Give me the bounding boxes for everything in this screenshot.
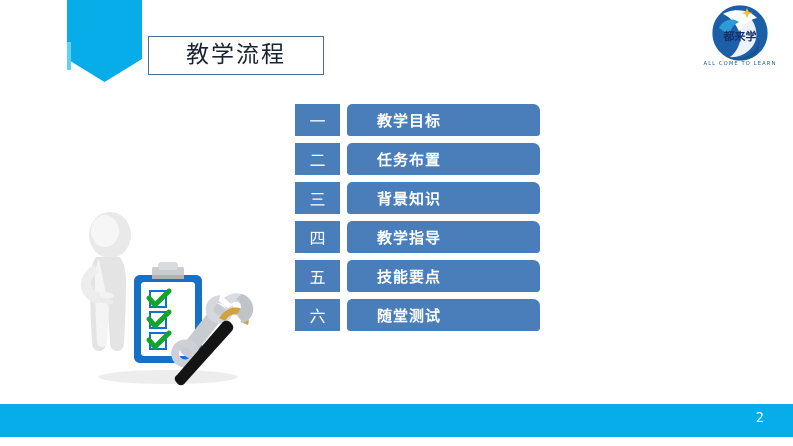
teaching-flow-list: 一 教学目标 二 任务布置 三 背景知识 四 教学指导 五 技能要点 六 随堂测…	[295, 104, 540, 331]
flow-label[interactable]: 任务布置	[347, 143, 540, 175]
3d-figure	[81, 212, 131, 351]
flow-label[interactable]: 教学指导	[347, 221, 540, 253]
logo-tagline: ALL COME TO LEARN	[704, 61, 777, 67]
cyan-pentagon-marker	[67, 0, 142, 82]
flow-number: 一	[295, 104, 340, 136]
page-number: 2	[756, 411, 764, 426]
flow-number: 四	[295, 221, 340, 253]
flow-number: 三	[295, 182, 340, 214]
flow-number: 五	[295, 260, 340, 292]
all-come-to-learn-logo: 都来学 ALL COME TO LEARN	[701, 4, 779, 72]
flow-number: 二	[295, 143, 340, 175]
flow-row[interactable]: 六 随堂测试	[295, 299, 540, 331]
flow-number: 六	[295, 299, 340, 331]
cyan-marker-highlight-strip	[67, 42, 71, 70]
flow-row[interactable]: 三 背景知识	[295, 182, 540, 214]
logo-chinese-text: 都来学	[723, 29, 757, 43]
flow-row[interactable]: 一 教学目标	[295, 104, 540, 136]
flow-row[interactable]: 四 教学指导	[295, 221, 540, 253]
slide-canvas: 教学流程 都来学 ALL COME TO LEARN 一 教学目标	[0, 0, 793, 446]
figure-with-checklist-clipboard-and-tools	[72, 205, 267, 390]
page-title-box: 教学流程	[148, 36, 324, 75]
flow-row[interactable]: 二 任务布置	[295, 143, 540, 175]
flow-label[interactable]: 教学目标	[347, 104, 540, 136]
flow-label[interactable]: 技能要点	[347, 260, 540, 292]
flow-label[interactable]: 随堂测试	[347, 299, 540, 331]
flow-label[interactable]: 背景知识	[347, 182, 540, 214]
page-title: 教学流程	[186, 44, 286, 67]
bottom-accent-bar	[0, 404, 793, 437]
flow-row[interactable]: 五 技能要点	[295, 260, 540, 292]
